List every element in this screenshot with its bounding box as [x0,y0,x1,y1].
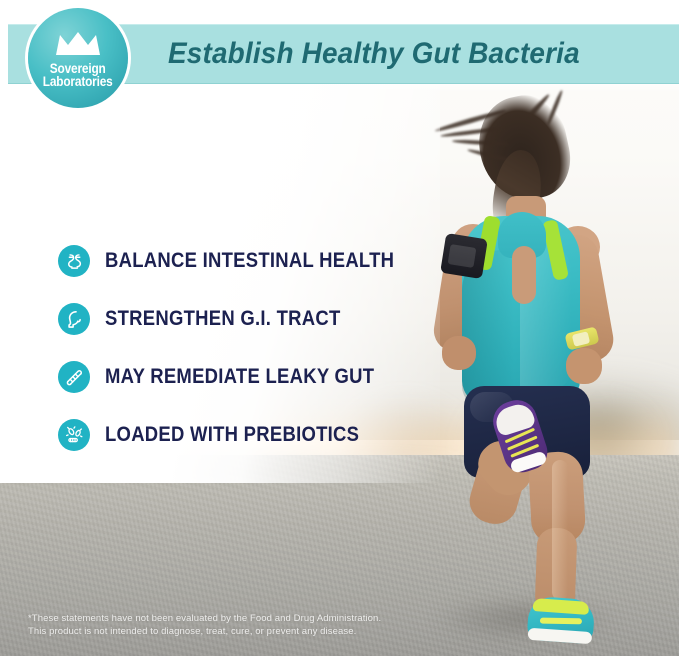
feature-label: BALANCE INTESTINAL HEALTH [105,249,394,273]
advertisement-banner: Establish Healthy Gut Bacteria Sovereign… [0,0,679,656]
left-fist [442,336,476,370]
feature-list: BALANCE INTESTINAL HEALTH STRENGTHEN G.I… [58,232,398,464]
feature-item: MAY REMEDIATE LEAKY GUT [58,348,398,406]
brand-name-line2: Laboratories [43,75,113,89]
feature-label: STRENGTHEN G.I. TRACT [105,307,341,331]
disclaimer: *These statements have not been evaluate… [28,612,448,638]
bacteria-icon [58,419,90,451]
intestine-icon [58,245,90,277]
right-fist [566,348,602,384]
brand-name-line1: Sovereign [43,62,113,76]
feature-label: LOADED WITH PREBIOTICS [105,423,359,447]
upper-back-skin [512,246,536,304]
feature-item: STRENGTHEN G.I. TRACT [58,290,398,348]
feature-item: LOADED WITH PREBIOTICS [58,406,398,464]
gut-lining-icon [58,361,90,393]
leg-highlight [552,460,568,600]
feature-item: BALANCE INTESTINAL HEALTH [58,232,398,290]
armband-window [448,244,477,268]
stomach-icon [58,303,90,335]
brand-name: Sovereign Laboratories [43,62,113,89]
crown-icon [55,32,101,61]
page-title: Establish Healthy Gut Bacteria [168,30,605,78]
disclaimer-line-2: This product is not intended to diagnose… [28,625,448,638]
disclaimer-line-1: *These statements have not been evaluate… [28,612,448,625]
planted-running-shoe [527,596,596,644]
brand-logo[interactable]: Sovereign Laboratories [28,8,128,108]
feature-label: MAY REMEDIATE LEAKY GUT [105,365,374,389]
